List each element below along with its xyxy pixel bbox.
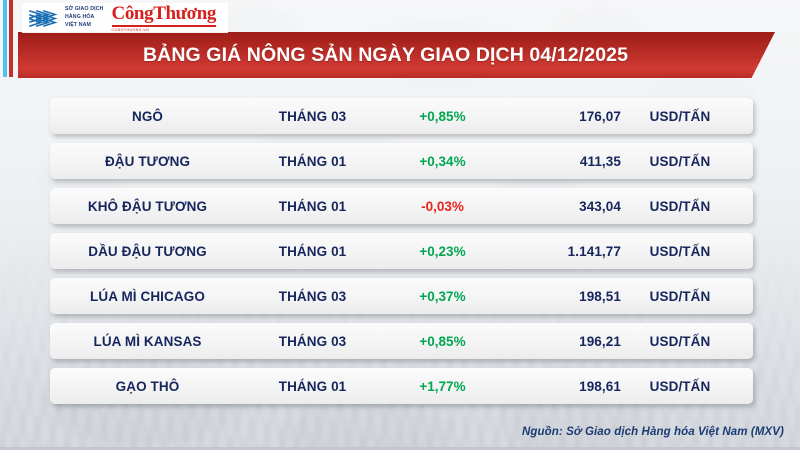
- table-row[interactable]: DẦU ĐẬU TƯƠNGTHÁNG 01+0,23%1.141,77USD/T…: [50, 233, 753, 269]
- price-unit: USD/TẤN: [625, 334, 735, 349]
- source-note: Nguồn: Sở Giao dịch Hàng hóa Việt Nam (M…: [522, 426, 784, 438]
- contract-month: THÁNG 03: [245, 334, 380, 349]
- commodity-name: NGÔ: [50, 109, 245, 124]
- price-value: 343,04: [505, 199, 625, 214]
- mxv-logo-line-1: SỞ GIAO DỊCH: [65, 6, 104, 14]
- table-row[interactable]: GẠO THÔTHÁNG 01+1,77%198,61USD/TẤN: [50, 368, 753, 404]
- mxv-logo: SỞ GIAO DỊCH HÀNG HÓA VIỆT NAM: [28, 6, 104, 29]
- price-unit: USD/TẤN: [625, 199, 735, 214]
- change-percent: +0,85%: [380, 334, 505, 349]
- cong-thuong-wordmark: CôngThương: [112, 4, 217, 24]
- logo-strip: SỞ GIAO DỊCH HÀNG HÓA VIỆT NAM CôngThươn…: [22, 3, 228, 33]
- commodity-name: ĐẬU TƯƠNG: [50, 154, 245, 169]
- price-unit: USD/TẤN: [625, 109, 735, 124]
- price-value: 198,51: [505, 289, 625, 304]
- commodity-name: DẦU ĐẬU TƯƠNG: [50, 244, 245, 259]
- change-percent: +0,85%: [380, 109, 505, 124]
- change-percent: +0,23%: [380, 244, 505, 259]
- cong-thuong-subtitle: CONGTHUONG.VN: [112, 28, 150, 32]
- price-value: 176,07: [505, 109, 625, 124]
- price-unit: USD/TẤN: [625, 244, 735, 259]
- cong-thuong-logo: CôngThương CONGTHUONG.VN: [112, 4, 217, 32]
- mxv-logo-text: SỞ GIAO DỊCH HÀNG HÓA VIỆT NAM: [65, 6, 104, 29]
- contract-month: THÁNG 03: [245, 109, 380, 124]
- price-value: 411,35: [505, 154, 625, 169]
- price-unit: USD/TẤN: [625, 154, 735, 169]
- contract-month: THÁNG 01: [245, 154, 380, 169]
- page-title: BẢNG GIÁ NÔNG SẢN NGÀY GIAO DỊCH 04/12/2…: [143, 44, 650, 67]
- price-unit: USD/TẤN: [625, 289, 735, 304]
- agricultural-price-board: SỞ GIAO DỊCH HÀNG HÓA VIỆT NAM CôngThươn…: [0, 0, 800, 450]
- price-table: NGÔTHÁNG 03+0,85%176,07USD/TẤNĐẬU TƯƠNGT…: [50, 98, 753, 404]
- accent-bar-cyan: [3, 0, 7, 77]
- change-percent: +1,77%: [380, 379, 505, 394]
- left-accent-bars: [3, 0, 19, 77]
- commodity-name: LÚA MÌ KANSAS: [50, 334, 245, 349]
- contract-month: THÁNG 01: [245, 244, 380, 259]
- table-row[interactable]: ĐẬU TƯƠNGTHÁNG 01+0,34%411,35USD/TẤN: [50, 143, 753, 179]
- mxv-logo-line-3: VIỆT NAM: [65, 22, 104, 30]
- commodity-name: KHÔ ĐẬU TƯƠNG: [50, 199, 245, 214]
- change-percent: +0,34%: [380, 154, 505, 169]
- table-row[interactable]: LÚA MÌ KANSASTHÁNG 03+0,85%196,21USD/TẤN: [50, 323, 753, 359]
- commodity-name: LÚA MÌ CHICAGO: [50, 289, 245, 304]
- price-value: 1.141,77: [505, 244, 625, 259]
- table-row[interactable]: NGÔTHÁNG 03+0,85%176,07USD/TẤN: [50, 98, 753, 134]
- mxv-wave-chevron-icon: [28, 7, 60, 29]
- commodity-name: GẠO THÔ: [50, 379, 245, 394]
- price-value: 198,61: [505, 379, 625, 394]
- contract-month: THÁNG 03: [245, 289, 380, 304]
- change-percent: -0,03%: [380, 199, 505, 214]
- accent-bar-red: [9, 0, 13, 77]
- price-value: 196,21: [505, 334, 625, 349]
- table-row[interactable]: LÚA MÌ CHICAGOTHÁNG 03+0,37%198,51USD/TẤ…: [50, 278, 753, 314]
- table-row[interactable]: KHÔ ĐẬU TƯƠNGTHÁNG 01-0,03%343,04USD/TẤN: [50, 188, 753, 224]
- contract-month: THÁNG 01: [245, 199, 380, 214]
- price-unit: USD/TẤN: [625, 379, 735, 394]
- contract-month: THÁNG 01: [245, 379, 380, 394]
- change-percent: +0,37%: [380, 289, 505, 304]
- mxv-logo-line-2: HÀNG HÓA: [65, 14, 104, 22]
- title-banner: BẢNG GIÁ NÔNG SẢN NGÀY GIAO DỊCH 04/12/2…: [18, 32, 775, 78]
